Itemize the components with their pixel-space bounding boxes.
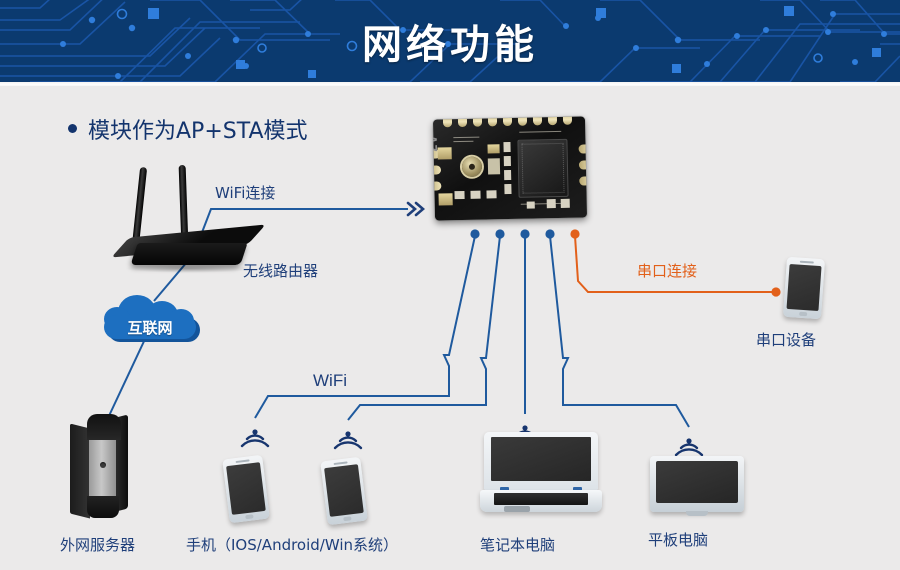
internet-cloud-label: 互联网 bbox=[104, 315, 196, 339]
mobile-phone-1 bbox=[222, 455, 270, 523]
tablet-computer-label: 平板电脑 bbox=[648, 529, 708, 550]
external-server bbox=[70, 418, 130, 523]
diagram-canvas: 网络功能 模块作为AP+STA模式 bbox=[0, 0, 900, 570]
serial-connect-label: 串口连接 bbox=[637, 260, 697, 281]
arrow-chevron-icon bbox=[408, 203, 423, 215]
laptop-computer-label: 笔记本电脑 bbox=[480, 534, 555, 555]
wifi-signal-tablet bbox=[676, 438, 702, 455]
wifi-signal-phone-1 bbox=[242, 429, 268, 446]
wifi-label: WiFi bbox=[313, 371, 347, 391]
wifi-signal-phone-2 bbox=[335, 431, 361, 448]
external-server-label: 外网服务器 bbox=[60, 534, 135, 555]
module-dot-serial bbox=[570, 229, 579, 238]
wire-cloud-to-server bbox=[108, 337, 146, 418]
module-dot-2 bbox=[495, 229, 504, 238]
serial-device bbox=[783, 257, 825, 320]
mobile-phone-2 bbox=[320, 457, 368, 525]
wireless-router bbox=[112, 165, 262, 280]
wire-module-to-phone2 bbox=[348, 236, 500, 420]
module-dot-3 bbox=[520, 229, 529, 238]
ufl-connector-icon bbox=[462, 157, 482, 177]
wireless-router-label: 无线路由器 bbox=[243, 260, 318, 281]
tablet-computer bbox=[650, 456, 744, 518]
module-dot-1 bbox=[470, 229, 479, 238]
serial-device-label: 串口设备 bbox=[756, 329, 816, 350]
connection-wires bbox=[0, 0, 900, 570]
wifi-module: A7 bbox=[433, 116, 587, 220]
router-body bbox=[130, 243, 247, 265]
module-dot-4 bbox=[545, 229, 554, 238]
wifi-signal-icons bbox=[242, 425, 702, 455]
serial-endpoint-dot bbox=[771, 287, 780, 296]
laptop-computer bbox=[480, 432, 602, 520]
module-chip bbox=[517, 139, 568, 198]
mobile-phones-label: 手机（IOS/Android/Win系统） bbox=[186, 534, 398, 555]
internet-cloud: 互联网 bbox=[104, 293, 196, 341]
router-shadow bbox=[124, 264, 254, 273]
server-led-icon bbox=[100, 462, 106, 468]
